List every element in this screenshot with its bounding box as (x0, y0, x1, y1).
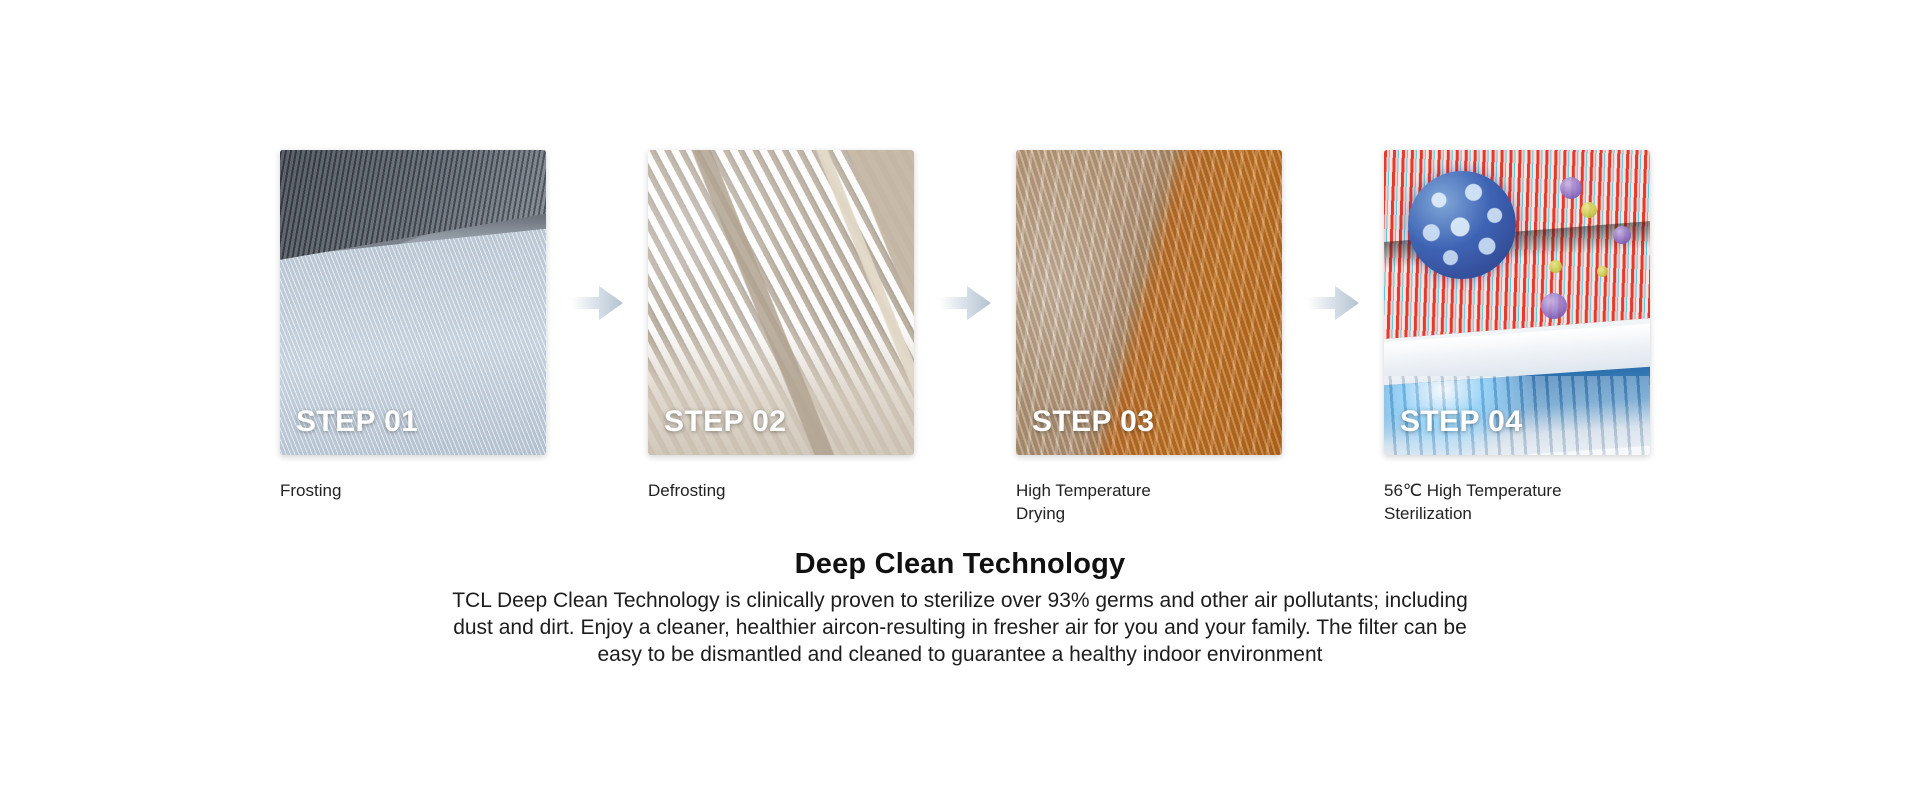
step-caption-3: High Temperature Drying (1016, 479, 1282, 525)
step-label-1: STEP 01 (296, 407, 418, 437)
step-column-2: STEP 02 Defrosting (648, 150, 914, 502)
step-card-3: STEP 03 (1016, 150, 1282, 455)
arrow-right-icon-3 (1293, 150, 1373, 455)
arrow-right-icon-1 (557, 150, 637, 455)
germ-large-icon (1408, 171, 1516, 279)
germ-small-icon-6 (1597, 266, 1608, 277)
page-title: Deep Clean Technology (0, 548, 1920, 581)
step-caption-1: Frosting (280, 479, 546, 502)
germ-small-icon-2 (1613, 226, 1631, 244)
step-caption-4: 56℃ High Temperature Sterilization (1384, 479, 1650, 525)
step-card-4: STEP 04 (1384, 150, 1650, 455)
description-text: TCL Deep Clean Technology is clinically … (430, 587, 1490, 668)
description-block: Deep Clean Technology TCL Deep Clean Tec… (0, 548, 1920, 668)
germ-small-icon-1 (1560, 177, 1582, 199)
step-card-1: STEP 01 (280, 150, 546, 455)
germ-small-icon-4 (1581, 202, 1597, 218)
step-label-4: STEP 04 (1400, 407, 1522, 437)
step-card-2: STEP 02 (648, 150, 914, 455)
steps-row: STEP 01 Frosting STEP 02 (280, 150, 1650, 460)
step-column-4: STEP 04 56℃ High Temperature Sterilizati… (1384, 150, 1650, 525)
step-label-3: STEP 03 (1032, 407, 1154, 437)
germ-small-icon-5 (1549, 260, 1562, 273)
step-caption-2: Defrosting (648, 479, 914, 502)
arrow-right-icon-2 (925, 150, 1005, 455)
deep-clean-technology-panel: STEP 01 Frosting STEP 02 (0, 0, 1920, 800)
step-column-1: STEP 01 Frosting (280, 150, 546, 502)
step-column-3: STEP 03 High Temperature Drying (1016, 150, 1282, 525)
step-label-2: STEP 02 (664, 407, 786, 437)
